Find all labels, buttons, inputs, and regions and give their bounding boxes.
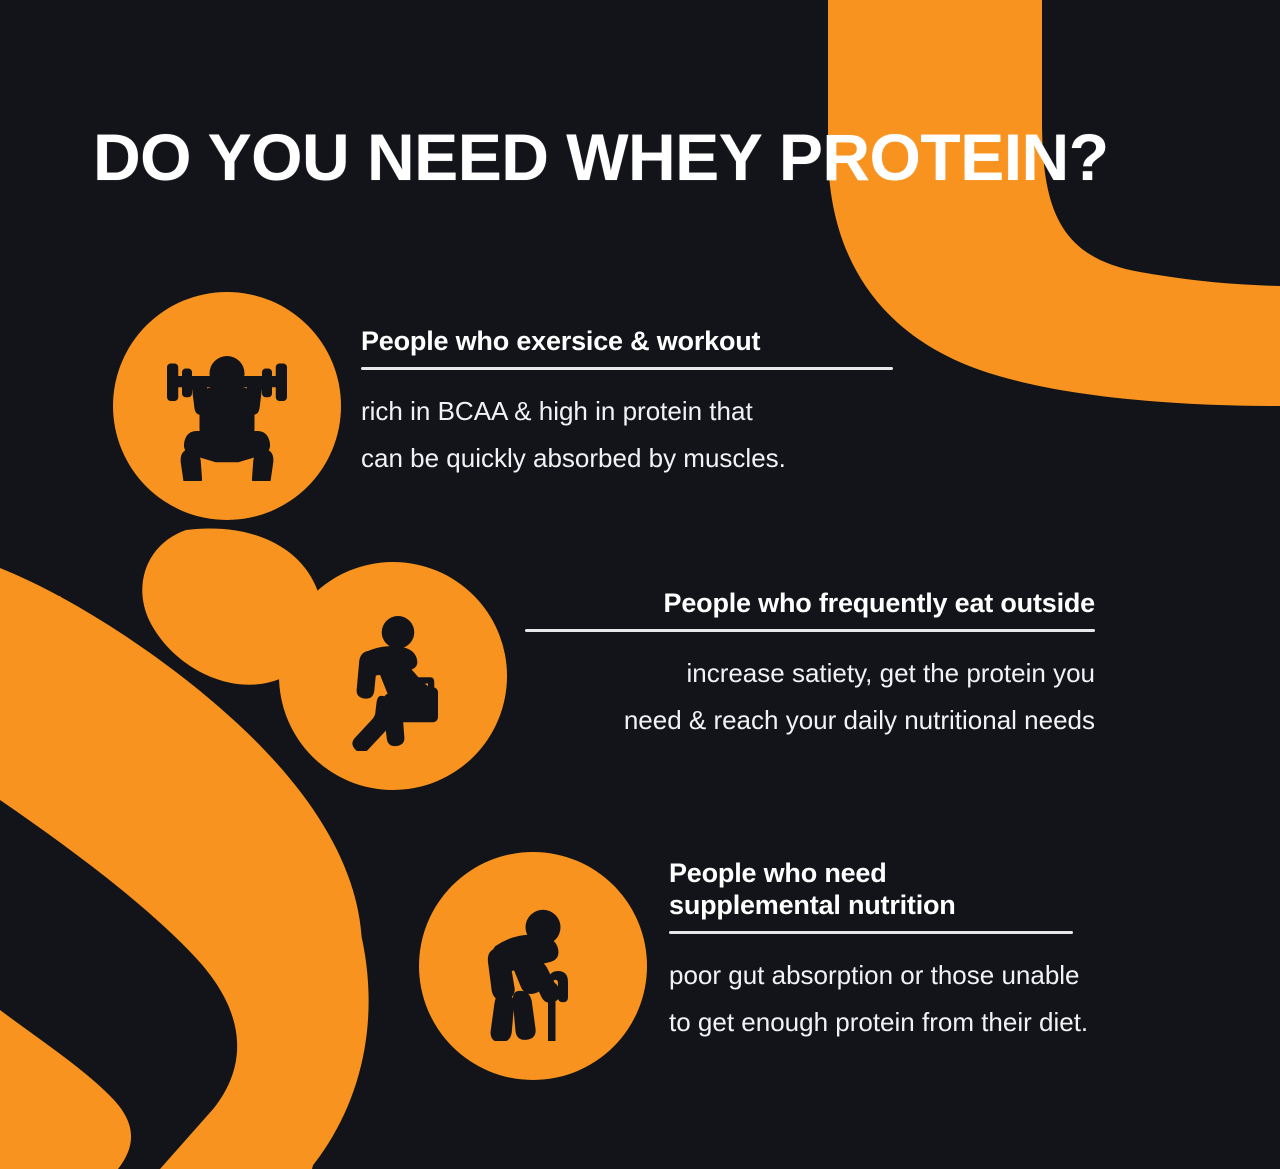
description-line: can be quickly absorbed by muscles. xyxy=(361,435,893,482)
orange-lower-tail xyxy=(0,1010,131,1169)
description-line: rich in BCAA & high in protein that xyxy=(361,388,893,435)
feature-block-exercise: People who exersice & workout rich in BC… xyxy=(113,292,893,520)
orange-hook-shape-top-right xyxy=(828,0,1280,406)
block-heading-line-2: supplemental nutrition xyxy=(669,890,1088,931)
infographic-poster: DO YOU NEED WHEY PROTEIN? xyxy=(0,0,1280,1169)
description-line: increase satiety, get the protein you xyxy=(525,650,1095,697)
icon-badge-weightlifter xyxy=(113,292,341,520)
block-description: rich in BCAA & high in protein that can … xyxy=(361,388,893,483)
block-heading: People who exersice & workout xyxy=(361,326,893,367)
s-swoosh-cut-lower-left xyxy=(0,800,237,1169)
icon-badge-businessman xyxy=(279,562,507,790)
heading-underline xyxy=(525,629,1095,632)
feature-block-supplemental: People who need supplemental nutrition p… xyxy=(419,852,1088,1080)
elderly-person-cane-icon xyxy=(458,891,608,1041)
block-description: increase satiety, get the protein you ne… xyxy=(525,650,1095,745)
businessman-walking-briefcase-icon xyxy=(318,601,468,751)
block-description: poor gut absorption or those unable to g… xyxy=(669,952,1088,1047)
block-text-supplemental: People who need supplemental nutrition p… xyxy=(669,852,1088,1046)
description-line: to get enough protein from their diet. xyxy=(669,999,1088,1046)
orange-s-swoosh-upper-lobe xyxy=(0,560,317,1169)
weightlifter-squat-icon xyxy=(152,331,302,481)
description-line: poor gut absorption or those unable xyxy=(669,952,1088,999)
description-line: need & reach your daily nutritional need… xyxy=(525,697,1095,744)
heading-underline xyxy=(669,931,1073,934)
page-title: DO YOU NEED WHEY PROTEIN? xyxy=(93,124,1109,190)
block-text-eat-outside: People who frequently eat outside increa… xyxy=(525,562,1095,744)
heading-underline xyxy=(361,367,893,370)
feature-block-eat-outside: People who frequently eat outside increa… xyxy=(279,562,1095,790)
icon-badge-elderly xyxy=(419,852,647,1080)
s-swoosh-inner-notch xyxy=(0,548,161,1169)
title-row: DO YOU NEED WHEY PROTEIN? xyxy=(0,112,1280,202)
block-text-exercise: People who exersice & workout rich in BC… xyxy=(361,292,893,482)
block-heading-line-1: People who need xyxy=(669,858,1088,890)
block-heading: People who frequently eat outside xyxy=(525,588,1095,629)
